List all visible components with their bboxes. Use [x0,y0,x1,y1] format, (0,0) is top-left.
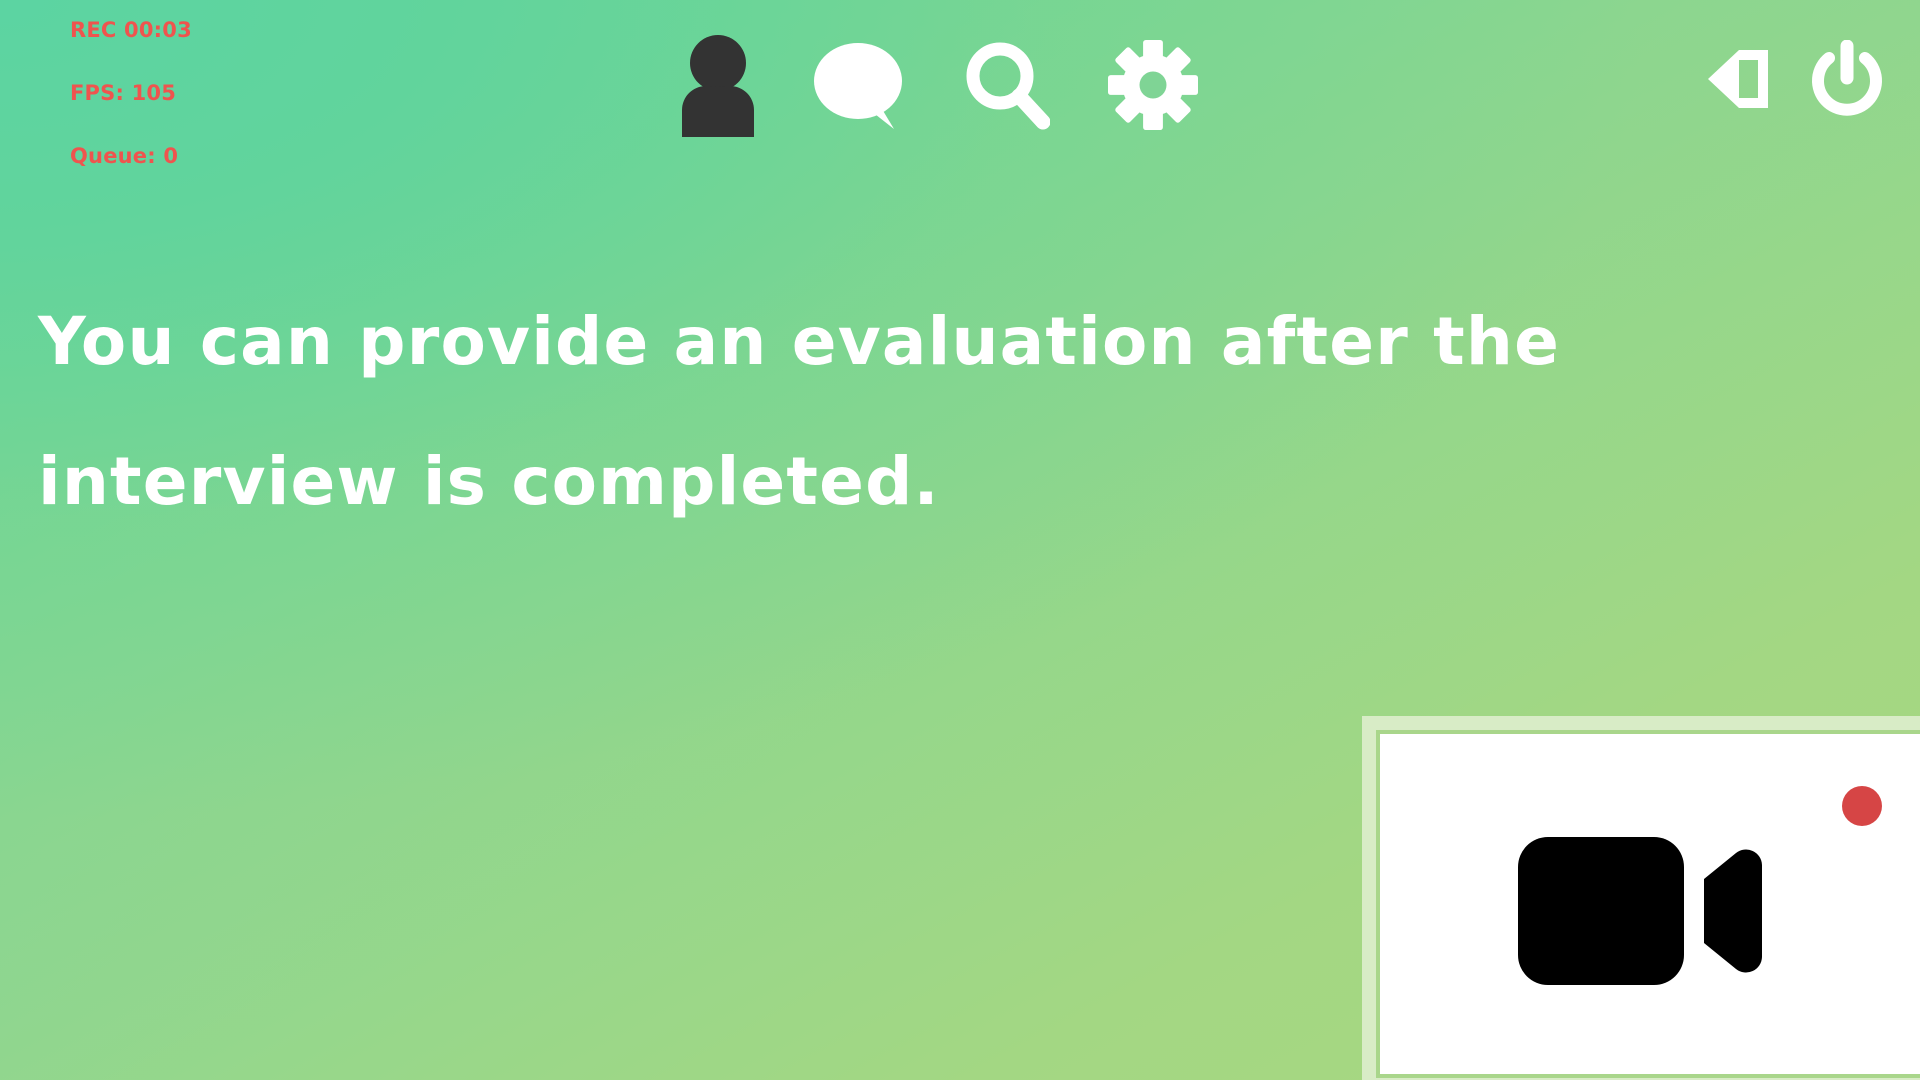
video-camera-icon [1518,837,1782,985]
top-toolbar [680,33,1198,137]
hud-stats: REC 00:03 FPS: 105 Queue: 0 [70,20,192,167]
session-controls [1708,40,1884,118]
record-dot-icon [1842,786,1882,826]
power-icon[interactable] [1810,40,1884,118]
caption-line-2: interview is completed. [38,412,1678,552]
chat-bubble-icon[interactable] [814,41,906,129]
caption-text: You can provide an evaluation after the … [38,272,1678,552]
exit-icon[interactable] [1708,42,1780,116]
person-icon[interactable] [680,33,756,137]
self-view-frame [1376,730,1920,1078]
self-view-feed [1380,734,1920,1074]
app-stage: REC 00:03 FPS: 105 Queue: 0 [0,0,1920,1080]
gear-icon[interactable] [1108,40,1198,130]
caption-line-1: You can provide an evaluation after the [38,272,1678,412]
hud-queue: Queue: 0 [70,146,192,167]
hud-rec-timer: REC 00:03 [70,20,192,41]
self-view-panel[interactable] [1362,716,1920,1080]
search-icon[interactable] [964,40,1050,130]
hud-fps: FPS: 105 [70,83,192,104]
